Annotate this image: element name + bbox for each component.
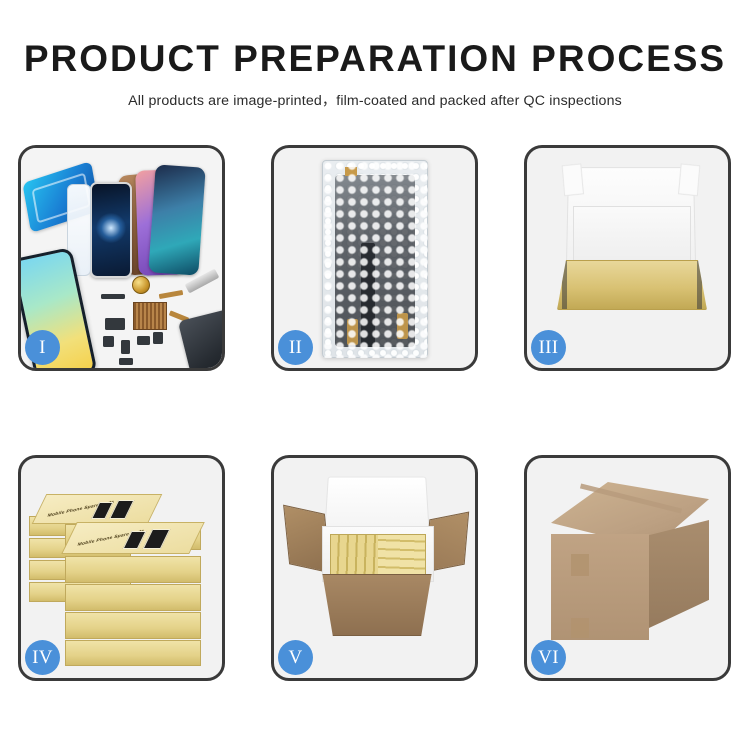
phone-teal xyxy=(148,164,205,275)
part-block-1 xyxy=(105,318,125,330)
step-badge-2: II xyxy=(278,330,313,365)
box-window-second-b xyxy=(143,529,171,549)
part-block-6 xyxy=(119,358,133,365)
stacked-box-front-5 xyxy=(65,640,201,666)
stacked-box-front-4 xyxy=(65,612,201,639)
product-preparation-infographic: PRODUCT PREPARATION PROCESS All products… xyxy=(0,0,750,750)
wrapped-part-cable xyxy=(361,243,375,347)
process-step-panel-2: II xyxy=(271,145,478,371)
carton-tape-lower xyxy=(571,618,589,638)
page-subtitle: All products are image-printed，film-coat… xyxy=(0,90,750,110)
part-strip-1 xyxy=(101,294,125,299)
step-badge-4: IV xyxy=(25,640,60,675)
foam-liner xyxy=(573,206,691,268)
process-step-panel-4: Mobile Phone Spare Parts Mobile Phone Sp… xyxy=(18,455,225,681)
logic-board-chip xyxy=(133,302,167,330)
header: PRODUCT PREPARATION PROCESS All products… xyxy=(0,38,750,110)
carton-side-face xyxy=(649,520,709,628)
process-step-panel-5: V xyxy=(271,455,478,681)
stacked-box-lid-second: Mobile Phone Spare Parts xyxy=(61,522,205,554)
step-badge-5: V xyxy=(278,640,313,675)
process-step-panel-6: VI xyxy=(524,455,731,681)
wrapped-connector-left xyxy=(347,319,358,345)
bubble-wrap-pouch xyxy=(322,160,428,358)
part-block-4 xyxy=(137,336,150,345)
speaker-component xyxy=(132,276,150,294)
step-badge-1: I xyxy=(25,330,60,365)
flex-cable-1 xyxy=(159,290,184,299)
stacked-box-front-3 xyxy=(65,584,201,611)
stacked-box-lid-top: Mobile Phone Spare Parts xyxy=(32,494,163,524)
stacked-box-front-2 xyxy=(65,556,201,583)
inner-box-stack: Mobile Phone Spare Parts Mobile Phone Sp… xyxy=(23,472,222,667)
wrapped-part-tab xyxy=(345,167,357,176)
part-block-3 xyxy=(121,340,130,354)
carton-front-face xyxy=(551,534,649,640)
page-title: PRODUCT PREPARATION PROCESS xyxy=(0,38,750,81)
carton-tape-upper xyxy=(571,554,589,576)
step-badge-3: III xyxy=(531,330,566,365)
process-step-panel-1: I xyxy=(18,145,225,371)
kraft-inner-box-base xyxy=(557,260,707,310)
process-step-panel-3: III xyxy=(524,145,731,371)
process-step-grid: I II III xyxy=(18,145,732,681)
step-badge-6: VI xyxy=(531,640,566,675)
packed-inner-boxes xyxy=(330,534,426,576)
shipping-carton-open xyxy=(312,574,442,636)
part-block-5 xyxy=(153,332,163,344)
phone-display-module xyxy=(90,182,132,278)
part-block-2 xyxy=(103,336,114,347)
wrapped-connector-right xyxy=(397,313,408,339)
